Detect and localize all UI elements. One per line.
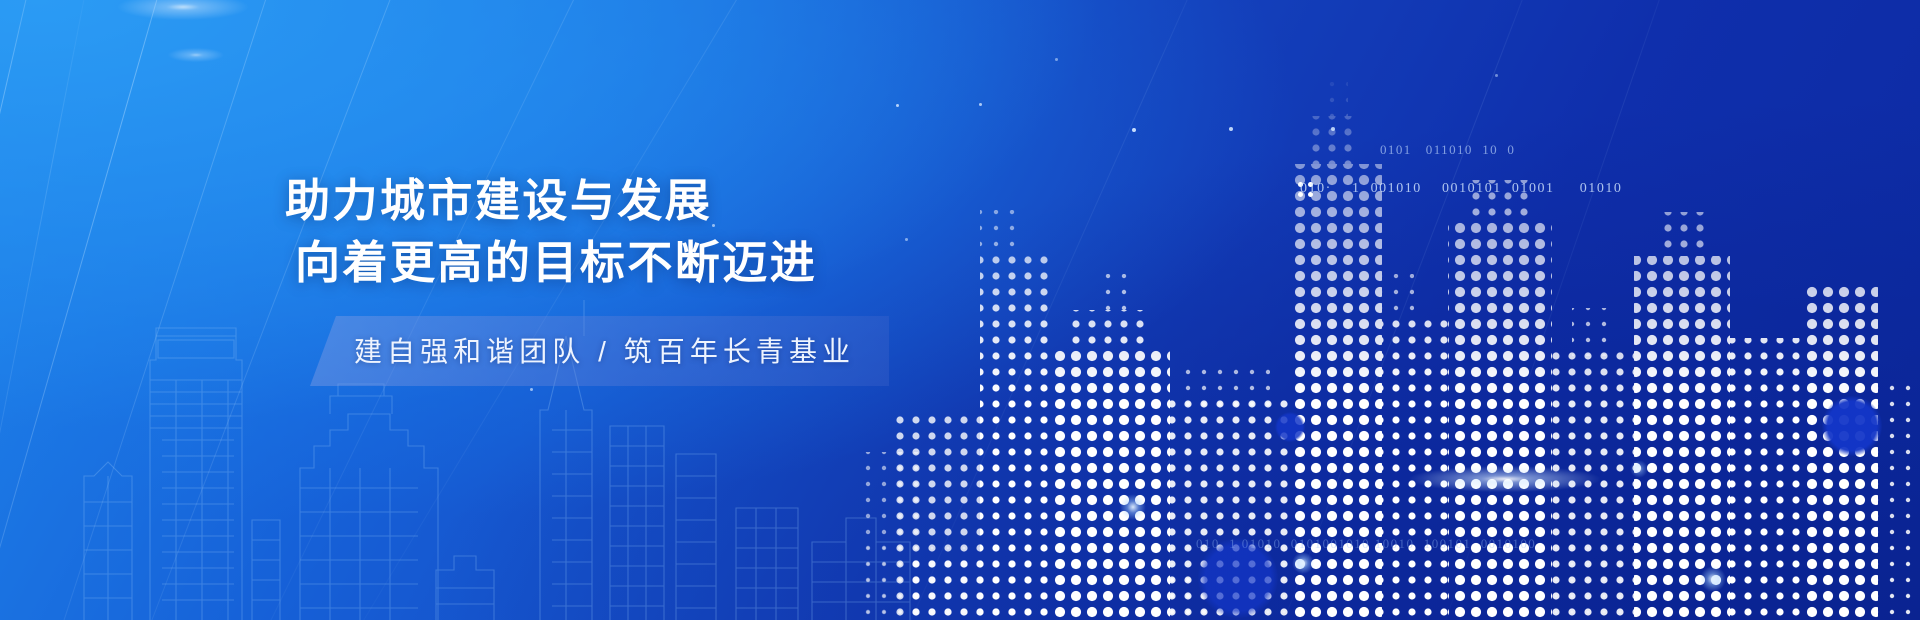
subtitle-text: 建自强和谐团队 / 筑百年长青基业 bbox=[354, 336, 855, 367]
subtitle-wrapper: 建自强和谐团队 / 筑百年长青基业 bbox=[310, 316, 889, 386]
binary-marker-dots bbox=[1298, 182, 1320, 198]
lens-flare-streak bbox=[1410, 466, 1600, 492]
speck bbox=[1229, 127, 1233, 131]
glow-flare-c bbox=[1700, 566, 1726, 592]
speck bbox=[1331, 127, 1335, 131]
speck bbox=[1055, 58, 1058, 61]
arc-sweep-3 bbox=[1325, 0, 1920, 299]
binary-code-line-1: 0101 011010 10 0 bbox=[1380, 142, 1515, 158]
banner-copy: 助力城市建设与发展 向着更高的目标不断迈进 建自强和谐团队 / 筑百年长青基业 bbox=[285, 170, 1005, 386]
subtitle-bar: 建自强和谐团队 / 筑百年长青基业 bbox=[310, 316, 889, 386]
glow-blob-large bbox=[1822, 396, 1882, 456]
speck bbox=[896, 104, 899, 107]
hero-banner: 0101 011010 10 0 010· 1 001010 0010101 0… bbox=[0, 0, 1920, 620]
dotted-city-skyline bbox=[860, 60, 1920, 620]
glow-flare-b bbox=[1292, 552, 1314, 574]
binary-code-line-3: 010 1 01010 0101001010 10010 100101 0010… bbox=[1196, 536, 1536, 552]
arc-sweep-2 bbox=[1215, 0, 1920, 280]
lens-flare-top bbox=[118, 0, 248, 20]
lens-flare-mid bbox=[168, 48, 224, 62]
headline-line-2: 向着更高的目标不断迈进 bbox=[295, 232, 1005, 294]
speck bbox=[1495, 74, 1498, 77]
arc-sweep-1 bbox=[1146, 0, 1920, 310]
glow-blob-bottom bbox=[1198, 538, 1278, 618]
glow-blob-small bbox=[1275, 412, 1305, 442]
speck bbox=[979, 103, 982, 106]
speck bbox=[1132, 128, 1136, 132]
glow-flare-d bbox=[1630, 460, 1648, 478]
glow-flare-a bbox=[1120, 494, 1146, 520]
speck bbox=[530, 388, 533, 391]
binary-code-line-2: 010· 1 001010 0010101 01001 01010 bbox=[1300, 181, 1622, 197]
headline-line-1: 助力城市建设与发展 bbox=[285, 170, 1005, 232]
